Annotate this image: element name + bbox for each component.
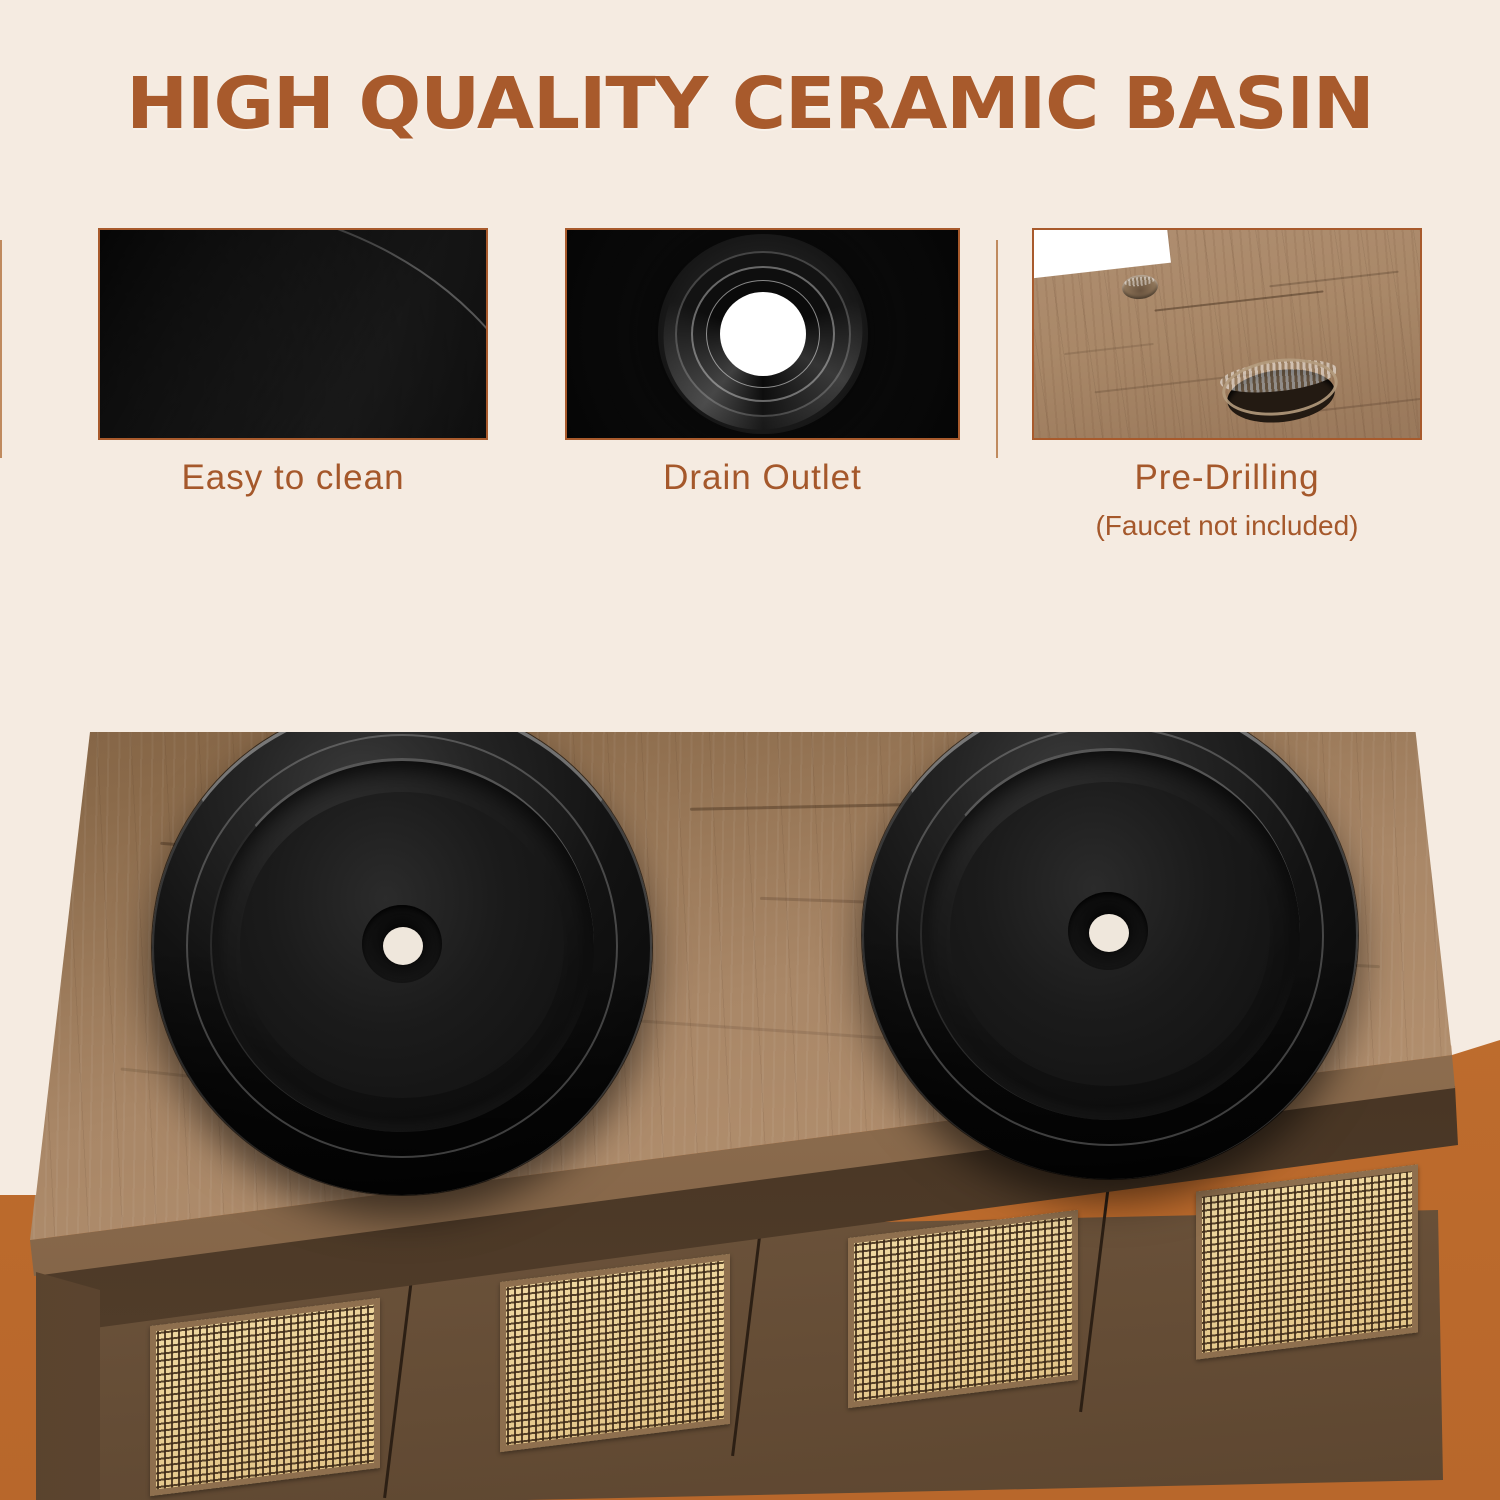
product-infographic: HIGH QUALITY CERAMIC BASIN Easy to clean: [0, 0, 1500, 1500]
product-photo: [0, 600, 1500, 1500]
pre-drilling-image: [1032, 228, 1422, 440]
feature-label-easy-to-clean: Easy to clean: [98, 458, 488, 498]
rattan-panel-1: [150, 1298, 380, 1496]
drain-hole-icon: [720, 292, 806, 376]
wall-background-top: [0, 600, 1500, 732]
basin-shadow-overlay: [100, 230, 486, 438]
page-title: HIGH QUALITY CERAMIC BASIN: [0, 62, 1500, 145]
left-basin-drain-hole: [383, 927, 423, 965]
feature-label-drain-outlet: Drain Outlet: [565, 458, 960, 498]
feature-drain-outlet: Drain Outlet: [565, 228, 960, 498]
right-basin: [862, 692, 1358, 1179]
feature-divider-1: [0, 240, 2, 458]
left-basin: [152, 700, 652, 1195]
feature-strip: Easy to clean Drain Outlet: [0, 228, 1500, 558]
feature-easy-to-clean: Easy to clean: [98, 228, 488, 498]
feature-divider-2: [996, 240, 998, 458]
feature-sublabel-faucet-not-included: (Faucet not included): [1032, 510, 1422, 542]
rattan-panel-4: [1196, 1164, 1418, 1359]
rattan-panel-2: [500, 1254, 730, 1452]
feature-pre-drilling: Pre-Drilling (Faucet not included): [1032, 228, 1422, 542]
feature-label-pre-drilling: Pre-Drilling: [1032, 458, 1422, 498]
basin-rim-macro-image: [98, 228, 488, 440]
right-basin-drain-hole: [1089, 914, 1129, 952]
drain-outlet-image: [565, 228, 960, 440]
rattan-panel-3: [848, 1210, 1078, 1408]
